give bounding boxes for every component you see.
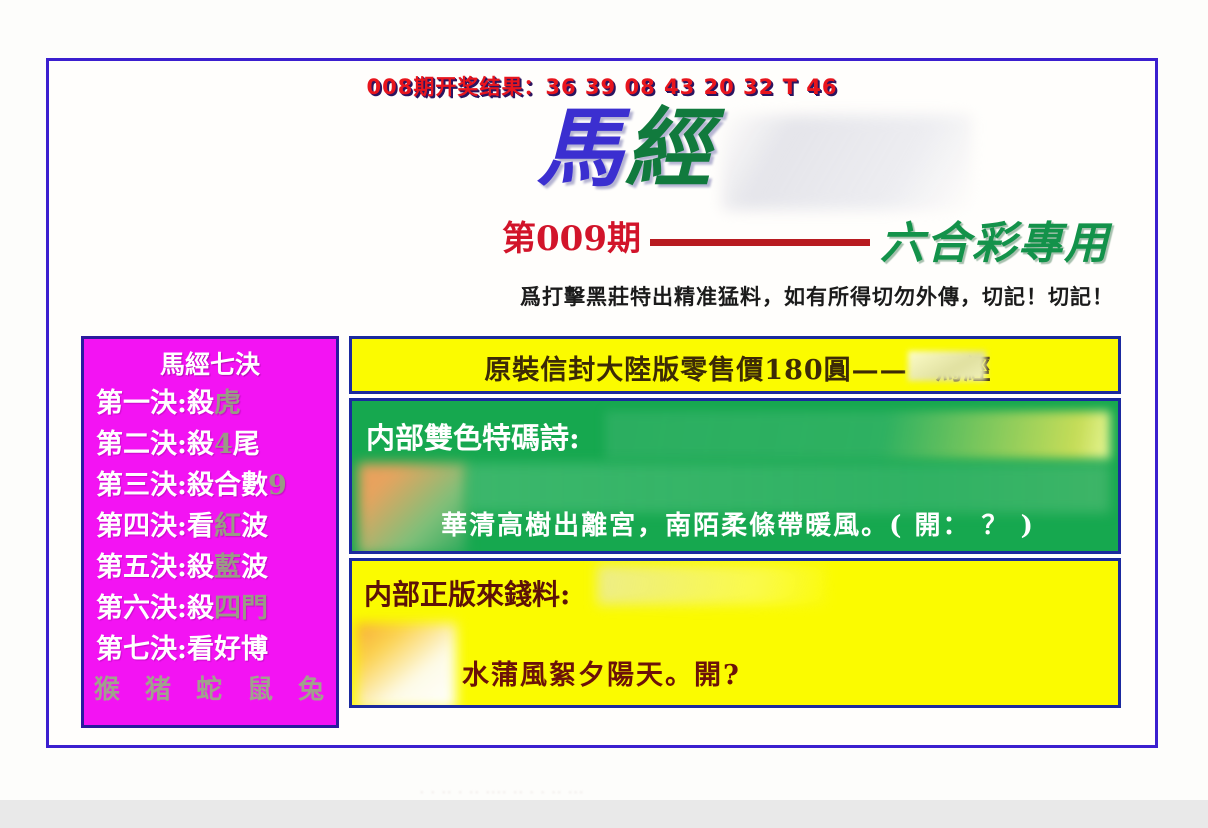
- masthead-tagline: 爲打擊黑莊特出精准猛料，如有所得切勿外傳，切記！切記！: [487, 281, 1147, 311]
- price-blur-overlay: [908, 351, 986, 381]
- seven-rules-title: 馬經七決: [84, 345, 336, 381]
- footer-faint-trace: · · ·· · ·· ···· ·· · · ·· ···: [420, 786, 800, 798]
- rule-highlight: 虎: [214, 388, 241, 419]
- rule-prefix: 第五決:殺: [96, 552, 214, 583]
- rule-prefix: 第三決:殺合數: [96, 470, 268, 501]
- price-banner-text: 原裝信封大陸版零售價180圓—— 馬經: [352, 348, 1121, 387]
- right-column: 原裝信封大陸版零售價180圓—— 馬經 内部雙色特碼詩: 華清高樹出離宮，南陌柔…: [349, 336, 1121, 728]
- rule-row: 第三決:殺合數9: [84, 465, 336, 506]
- brand-logo-ma: 馬: [537, 98, 625, 199]
- rule-row: 第四決:看紅波: [84, 506, 336, 547]
- green-panel-poem: 華清高樹出離宮，南陌柔條帶暖風。( 開： ？ ): [352, 505, 1121, 542]
- double-color-poem-panel: 内部雙色特碼詩: 華清高樹出離宮，南陌柔條帶暖風。( 開： ？ ): [349, 398, 1121, 554]
- brand-logo: 馬經: [537, 103, 713, 195]
- issue-subtitle: 六合彩專用: [880, 207, 1110, 271]
- yellow-panel-poem: 水蒲風絮夕陽天。開?: [462, 653, 741, 692]
- issue-row: 第009期 六合彩專用: [502, 211, 1147, 269]
- rule-row: 第一決:殺虎: [84, 383, 336, 424]
- page-background: 008期开奖结果：36 39 08 43 20 32 T 46 馬經 第009期…: [0, 0, 1208, 800]
- rule-prefix: 第四決:看: [96, 511, 214, 542]
- rule-highlight: 4: [214, 429, 233, 460]
- rule-suffix: 波: [241, 552, 268, 583]
- rule-row: 第二決:殺4尾: [84, 424, 336, 465]
- rule-prefix: 第一決:殺: [96, 388, 214, 419]
- content-area: 馬經七決 第一決:殺虎 第二決:殺4尾 第三決:殺合數9 第四決:看紅波 第五決…: [81, 336, 1121, 728]
- logo-blur-overlay: [722, 115, 972, 210]
- seven-rules-panel: 馬經七決 第一決:殺虎 第二決:殺4尾 第三決:殺合數9 第四決:看紅波 第五決…: [81, 336, 339, 728]
- rule-highlight: 藍: [214, 552, 241, 583]
- issue-number: 第009期: [502, 211, 641, 260]
- rule-suffix: 波: [241, 511, 268, 542]
- green-panel-heading: 内部雙色特碼詩:: [366, 415, 580, 457]
- brand-logo-jing: 經: [625, 98, 713, 199]
- yellow-panel-heading: 内部正版來錢料:: [364, 573, 570, 613]
- rule-prefix: 第六決:殺: [96, 593, 214, 624]
- issue-divider-rule: [650, 239, 870, 246]
- zodiac-row: 猴 猪 蛇 鼠 兔: [84, 670, 336, 710]
- price-banner: 原裝信封大陸版零售價180圓—— 馬經: [349, 336, 1121, 394]
- rule-suffix: 尾: [233, 429, 260, 460]
- rule-row: 第七決:看好博: [84, 629, 336, 670]
- poster-card: 008期开奖结果：36 39 08 43 20 32 T 46 馬經 第009期…: [46, 58, 1158, 748]
- rule-prefix: 第二決:殺: [96, 429, 214, 460]
- rule-prefix: 第七決:看好博: [96, 634, 268, 665]
- rule-row: 第五決:殺藍波: [84, 547, 336, 588]
- rule-row: 第六決:殺四門: [84, 588, 336, 629]
- rule-highlight: 紅: [214, 511, 241, 542]
- rule-highlight: 9: [268, 470, 287, 501]
- money-tip-panel: 内部正版來錢料: 水蒲風絮夕陽天。開?: [349, 558, 1121, 708]
- rule-highlight: 四門: [214, 593, 268, 624]
- yellow-blur-top-overlay: [597, 565, 827, 605]
- yellow-blur-left-overlay: [356, 623, 456, 708]
- masthead: 馬經 第009期 六合彩專用 爲打擊黑莊特出精准猛料，如有所得切勿外傳，切記！切…: [447, 103, 1147, 318]
- lottery-result-line: 008期开奖结果：36 39 08 43 20 32 T 46: [49, 71, 1155, 101]
- bottom-gray-bar: [0, 800, 1208, 828]
- green-blur-top-overlay: [605, 411, 1110, 459]
